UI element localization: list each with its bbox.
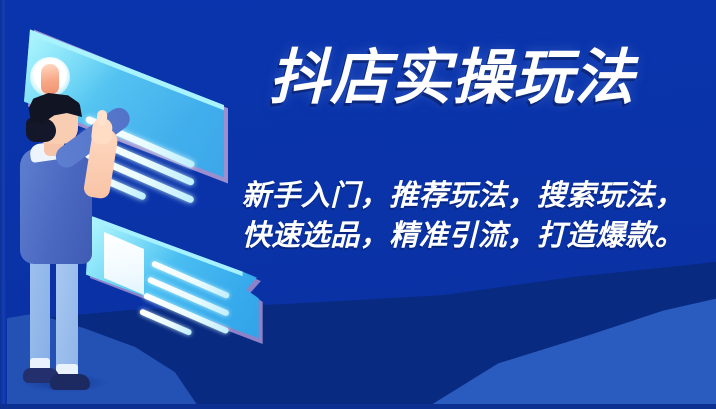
person-torso: [20, 148, 92, 264]
banner-subheadline: 新手入门，推荐玩法，搜索玩法，快速选品，精准引流，打造爆款。: [228, 176, 698, 256]
person-pointing-finger: [97, 110, 108, 127]
user-avatar-on-screen: [41, 64, 59, 94]
person-leg-left: [30, 250, 50, 375]
person-shoe-right: [50, 374, 90, 390]
person-leg-right: [56, 252, 78, 380]
course-promo-banner: 抖店实操玩法 新手入门，推荐玩法，搜索玩法，快速选品，精准引流，打造爆款。: [0, 0, 716, 409]
banner-headline: 抖店实操玩法: [208, 46, 696, 110]
